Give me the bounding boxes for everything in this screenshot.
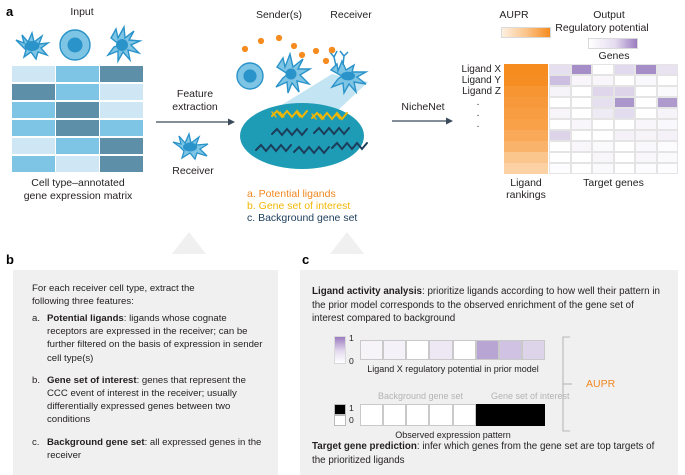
pointer-triangle-b	[172, 232, 206, 254]
regulatory-potential-cell	[571, 97, 593, 108]
regulatory-potential-cell	[614, 97, 636, 108]
expression-cell	[100, 138, 143, 154]
ligand-rankings-line2: rankings	[492, 189, 560, 201]
expression-cell	[12, 84, 55, 100]
prior-model-cell	[383, 340, 406, 360]
panel-b-intro: For each receiver cell type, extract the…	[32, 282, 260, 308]
input-title: Input	[42, 6, 122, 18]
aupr-cell	[504, 119, 548, 130]
regulatory-potential-cell	[657, 97, 679, 108]
receiver-label-scene: Receiver	[318, 9, 384, 21]
ligand-rankings-column	[504, 64, 548, 174]
regulatory-potential-cell	[549, 75, 571, 86]
senders-label: Sender(s)	[243, 9, 315, 21]
panel-letter-c: c	[302, 252, 309, 267]
sender-receiver-illustration	[236, 26, 386, 186]
prior-model-cell	[453, 340, 476, 360]
expression-cell	[56, 156, 99, 172]
prior-model-cell	[522, 340, 545, 360]
expression-cell	[56, 138, 99, 154]
ligand-row-label: Ligand X	[455, 64, 501, 75]
regulatory-potential-cell	[657, 141, 679, 152]
feature-extraction-line1: Feature	[154, 88, 236, 100]
regulatory-potential-cell	[635, 64, 657, 75]
aupr-cell	[504, 108, 548, 119]
ligand-activity-analysis-bold: Ligand activity analysis	[312, 286, 422, 297]
regulatory-potential-cell	[549, 163, 571, 174]
target-gene-prediction-bold: Target gene prediction	[312, 441, 417, 452]
regulatory-potential-cell	[614, 119, 636, 130]
panel-b-intro-line2: following three features:	[32, 296, 134, 307]
observed-expression-cell	[522, 404, 545, 426]
regulatory-potential-cell	[635, 152, 657, 163]
panel-b-list-item: b.Gene set of interest: genes that repre…	[32, 374, 264, 427]
observed-scale-swatch-zero	[334, 415, 346, 426]
regulatory-potential-heatmap	[549, 64, 678, 174]
regulatory-potential-cell	[614, 75, 636, 86]
ligand-activity-analysis-paragraph: Ligand activity analysis: prioritize lig…	[312, 285, 668, 326]
regulatory-potential-cell	[571, 130, 593, 141]
prior-model-scale-max: 1	[349, 332, 354, 345]
observed-expression-cell	[429, 404, 452, 426]
ligand-row-label: Ligand Y	[455, 75, 501, 86]
regulatory-potential-cell	[635, 108, 657, 119]
regulatory-potential-cell	[635, 97, 657, 108]
feature-extraction-arrow-icon	[156, 118, 236, 127]
prior-model-bar	[360, 340, 545, 360]
regulatory-potential-cell	[657, 86, 679, 97]
aupr-cell	[504, 130, 548, 141]
regulatory-potential-cell	[614, 141, 636, 152]
regulatory-potential-cell	[635, 86, 657, 97]
aupr-cell	[504, 86, 548, 97]
regulatory-potential-cell	[592, 86, 614, 97]
aupr-bracket-icon	[562, 336, 584, 432]
regulatory-potential-cell	[614, 86, 636, 97]
expression-cell	[100, 102, 143, 118]
target-genes-label: Target genes	[549, 177, 678, 189]
aupr-cell	[504, 75, 548, 86]
regulatory-potential-cell	[571, 119, 593, 130]
observed-scale-min: 0	[349, 414, 354, 427]
regulatory-potential-cell	[549, 64, 571, 75]
panel-b-item-text: Gene set of interest: genes that represe…	[47, 374, 264, 427]
legend-gene-set-of-interest: b. Gene set of interest	[247, 200, 350, 212]
regulatory-potential-cell	[571, 64, 593, 75]
regulatory-potential-cell	[549, 86, 571, 97]
regulatory-potential-cell	[592, 141, 614, 152]
regulatory-potential-cell	[592, 152, 614, 163]
observed-expression-cell	[499, 404, 522, 426]
prior-model-cell	[429, 340, 452, 360]
pointer-triangle-c	[330, 232, 364, 254]
panel-b-item-text: Background gene set: all expressed genes…	[47, 436, 264, 462]
panel-b-feature-list: a.Potential ligands: ligands whose cogna…	[32, 312, 264, 471]
regulatory-potential-cell	[592, 64, 614, 75]
observed-expression-cell	[453, 404, 476, 426]
ligand-row-labels: Ligand XLigand YLigand Z...	[455, 64, 501, 130]
regulatory-potential-cell	[549, 97, 571, 108]
aupr-cell	[504, 152, 548, 163]
regulatory-potential-cell	[614, 152, 636, 163]
panel-b-item-marker: a.	[32, 312, 47, 365]
regulatory-potential-cell	[657, 163, 679, 174]
group-label-background: Background gene set	[378, 390, 463, 403]
ligand-row-label: Ligand Z	[455, 86, 501, 97]
regulatory-potential-cell	[592, 75, 614, 86]
regulatory-potential-cell	[635, 163, 657, 174]
genes-axis-label: Genes	[0, 100, 17, 112]
expression-cell	[100, 156, 143, 172]
regulatory-potential-cell	[592, 97, 614, 108]
receiver-cell-icon-left	[168, 131, 218, 161]
panel-b-item-bold: Potential ligands	[47, 313, 124, 324]
observed-scale-swatch-one	[334, 404, 346, 415]
prior-model-caption: Ligand X regulatory potential in prior m…	[346, 363, 560, 376]
target-gene-prediction-paragraph: Target gene prediction: infer which gene…	[312, 440, 668, 467]
panel-b-list-item: c.Background gene set: all expressed gen…	[32, 436, 264, 462]
regulatory-potential-cell	[614, 64, 636, 75]
regulatory-potential-cell	[571, 141, 593, 152]
legend-background-gene-set: c. Background gene set	[247, 212, 357, 224]
expression-cell	[56, 84, 99, 100]
regulatory-potential-cell	[657, 108, 679, 119]
regulatory-potential-cell	[592, 108, 614, 119]
regulatory-potential-cell	[571, 108, 593, 119]
genes-top-label: Genes	[570, 50, 658, 62]
expression-cell	[12, 120, 55, 136]
expression-cell	[12, 102, 55, 118]
expression-cell	[56, 120, 99, 136]
ligand-row-label: .	[455, 97, 501, 108]
prior-model-scale-colorbar	[334, 336, 346, 364]
observed-expression-cell	[360, 404, 383, 426]
observed-expression-cell	[383, 404, 406, 426]
regulatory-potential-cell	[592, 119, 614, 130]
aupr-cell	[504, 64, 548, 75]
input-cell-icons	[12, 24, 144, 64]
regulatory-potential-cell	[571, 163, 593, 174]
regulatory-potential-cell	[571, 75, 593, 86]
regulatory-potential-cell	[571, 152, 593, 163]
regulatory-potential-cell	[592, 130, 614, 141]
ligand-row-label: .	[455, 119, 501, 130]
regulatory-potential-cell	[635, 75, 657, 86]
panel-b-item-bold: Gene set of interest	[47, 375, 137, 386]
panel-letter-b: b	[6, 252, 14, 267]
regulatory-potential-cell	[549, 108, 571, 119]
legend-potential-ligands: a. Potential ligands	[247, 188, 336, 200]
regulatory-potential-cell	[635, 130, 657, 141]
nichenet-label: NicheNet	[392, 101, 454, 113]
expression-cell	[12, 156, 55, 172]
expression-cell	[12, 138, 55, 154]
expression-cell	[100, 66, 143, 82]
regulatory-potential-cell	[549, 119, 571, 130]
panel-b-item-marker: c.	[32, 436, 47, 462]
nichenet-arrow-icon	[392, 117, 454, 126]
regulatory-potential-colorbar	[588, 38, 638, 49]
regulatory-potential-cell	[614, 130, 636, 141]
panel-b-item-marker: b.	[32, 374, 47, 427]
prior-model-cell	[360, 340, 383, 360]
panel-b-item-text: Potential ligands: ligands whose cognate…	[47, 312, 264, 365]
observed-expression-bar	[360, 404, 545, 426]
regulatory-potential-cell	[657, 130, 679, 141]
regulatory-potential-title: Regulatory potential	[522, 22, 682, 34]
regulatory-potential-cell	[614, 108, 636, 119]
receiver-label-left: Receiver	[152, 165, 234, 177]
regulatory-potential-cell	[635, 141, 657, 152]
regulatory-potential-cell	[657, 152, 679, 163]
observed-expression-cell	[406, 404, 429, 426]
regulatory-potential-cell	[657, 119, 679, 130]
regulatory-potential-cell	[571, 86, 593, 97]
observed-expression-cell	[476, 404, 499, 426]
regulatory-potential-cell	[549, 141, 571, 152]
regulatory-potential-cell	[635, 119, 657, 130]
regulatory-potential-cell	[549, 130, 571, 141]
expression-cell	[12, 66, 55, 82]
panel-b-item-bold: Background gene set	[47, 437, 145, 448]
matrix-caption-line2: gene expression matrix	[10, 190, 146, 202]
regulatory-potential-cell	[549, 152, 571, 163]
expression-cell	[56, 102, 99, 118]
regulatory-potential-cell	[657, 75, 679, 86]
prior-model-cell	[499, 340, 522, 360]
panel-letter-a: a	[6, 4, 13, 19]
regulatory-potential-cell	[592, 163, 614, 174]
group-label-gene-set: Gene set of interest	[491, 390, 570, 403]
output-title: Output	[538, 9, 680, 21]
expression-cell	[56, 66, 99, 82]
prior-model-cell	[406, 340, 429, 360]
ligand-row-label: .	[455, 108, 501, 119]
panel-b-intro-line1: For each receiver cell type, extract the	[32, 283, 195, 294]
expression-cell	[100, 120, 143, 136]
aupr-bracket-label: AUPR	[586, 378, 615, 391]
panel-b-list-item: a.Potential ligands: ligands whose cogna…	[32, 312, 264, 365]
aupr-cell	[504, 141, 548, 152]
aupr-cell	[504, 163, 548, 174]
matrix-caption-line1: Cell type–annotated	[10, 177, 146, 189]
prior-model-cell	[476, 340, 499, 360]
regulatory-potential-cell	[614, 163, 636, 174]
feature-extraction-line2: extraction	[154, 101, 236, 113]
aupr-cell	[504, 97, 548, 108]
gene-expression-matrix	[12, 66, 143, 172]
expression-cell	[100, 84, 143, 100]
regulatory-potential-cell	[657, 64, 679, 75]
